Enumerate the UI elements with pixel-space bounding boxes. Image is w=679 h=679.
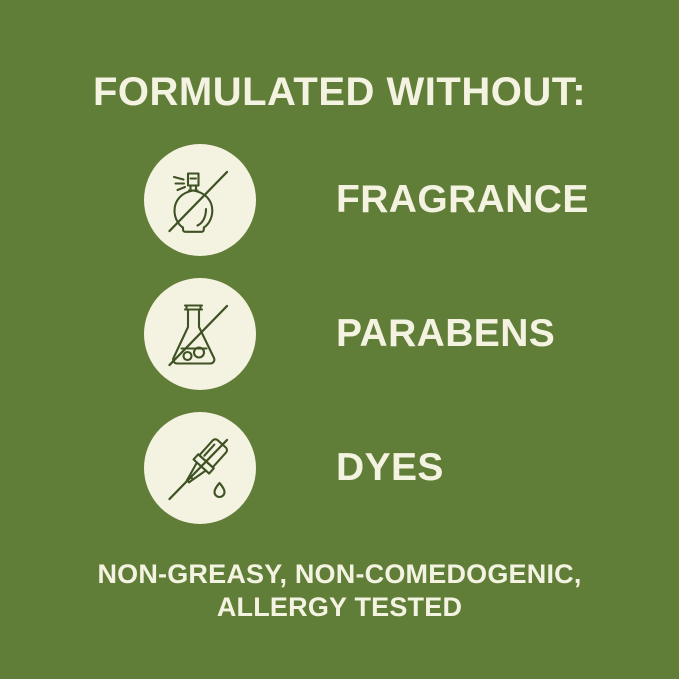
list-item: DYES: [0, 412, 679, 546]
no-dropper-icon: [144, 412, 256, 524]
no-fragrance-bottle-icon: [144, 144, 256, 256]
formulated-without-panel: FORMULATED WITHOUT:: [0, 0, 679, 679]
list-item: PARABENS: [0, 278, 679, 412]
claim-label: DYES: [336, 412, 444, 524]
page-title: FORMULATED WITHOUT:: [0, 66, 679, 118]
list-item: FRAGRANCE: [0, 144, 679, 278]
claim-label: PARABENS: [336, 278, 555, 390]
footer-line-1: NON-GREASY, NON-COMEDOGENIC,: [0, 558, 679, 591]
claim-label: FRAGRANCE: [336, 144, 589, 256]
claims-list: FRAGRANCE: [0, 144, 679, 546]
footer-line-2: ALLERGY TESTED: [0, 591, 679, 624]
no-flask-icon: [144, 278, 256, 390]
footer-claims: NON-GREASY, NON-COMEDOGENIC, ALLERGY TES…: [0, 558, 679, 624]
